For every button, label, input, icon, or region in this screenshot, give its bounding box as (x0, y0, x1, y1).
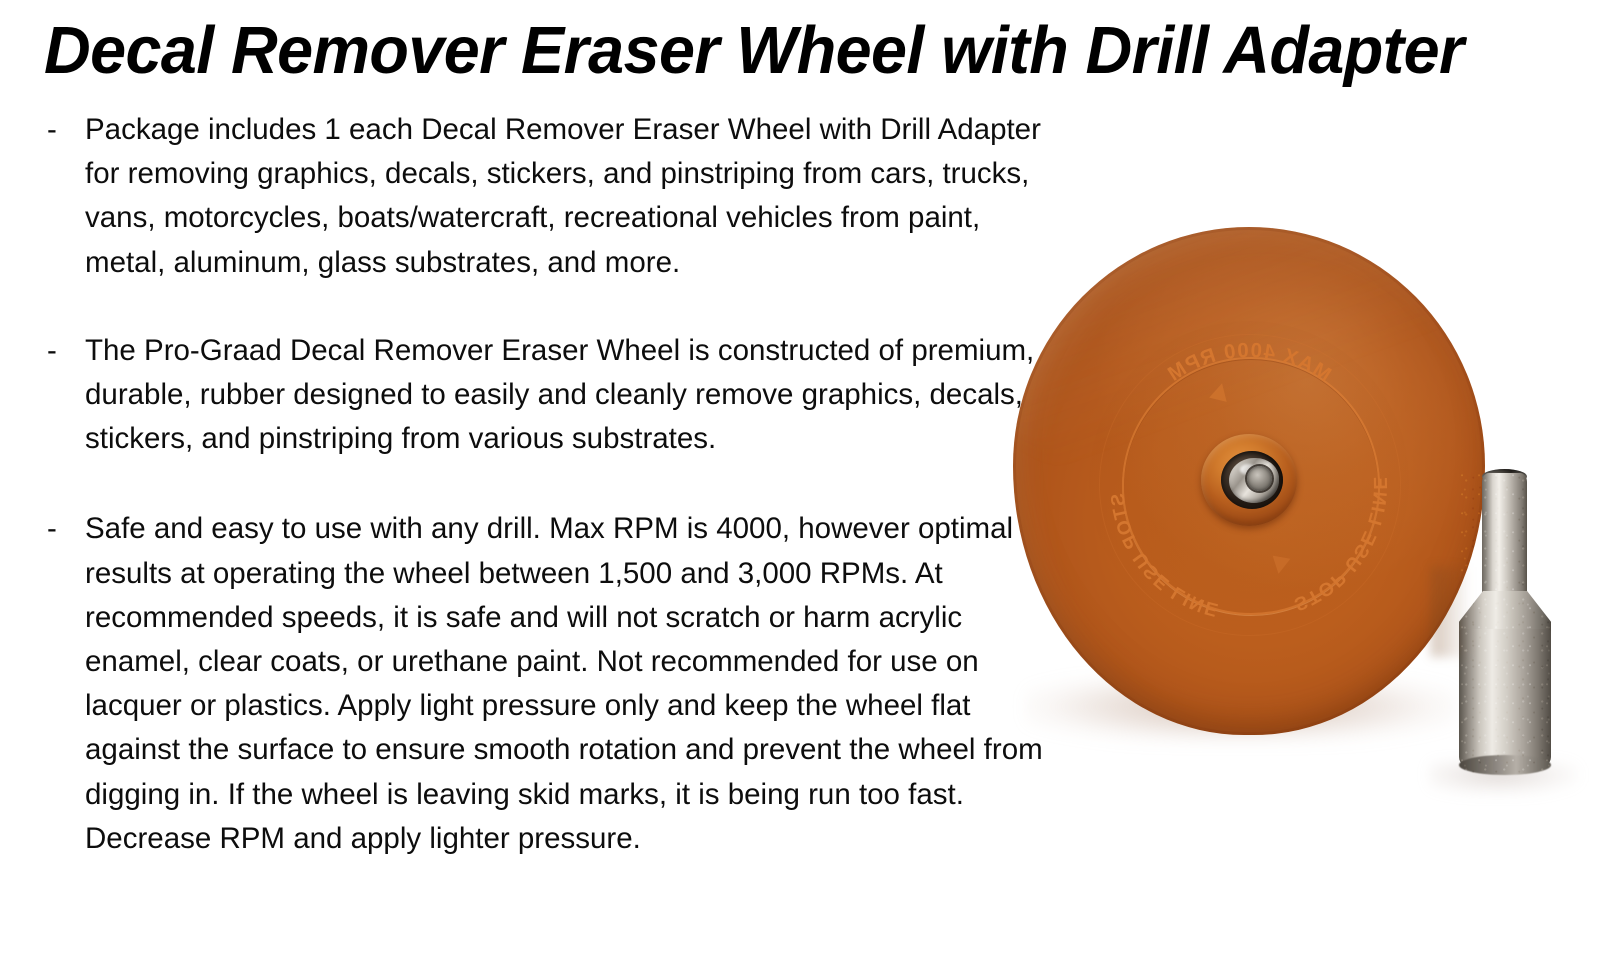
description-list: - Package includes 1 each Decal Remover … (44, 108, 1034, 861)
drill-adapter (1437, 473, 1579, 773)
wheel-hub-bore (1221, 451, 1283, 509)
list-item: - The Pro-Graad Decal Remover Eraser Whe… (44, 329, 1067, 462)
bullet-marker-icon: - (47, 507, 57, 551)
hub-nut-bore (1247, 466, 1272, 491)
list-item-text: Package includes 1 each Decal Remover Er… (85, 108, 1067, 285)
wheel-hub-boss (1201, 434, 1297, 526)
adapter-metal-texture (1459, 473, 1551, 773)
list-item: - Safe and easy to use with any drill. M… (44, 507, 1067, 861)
list-item-text: The Pro-Graad Decal Remover Eraser Wheel… (85, 329, 1067, 462)
product-infographic: Decal Remover Eraser Wheel with Drill Ad… (0, 0, 1600, 974)
list-item-text: Safe and easy to use with any drill. Max… (85, 507, 1067, 861)
bullet-marker-icon: - (47, 108, 57, 152)
list-item: - Package includes 1 each Decal Remover … (44, 108, 1067, 285)
product-photo: MAX 4000 RPM STOP USE LINE STOP USE LINE (985, 205, 1600, 845)
bullet-marker-icon: - (47, 329, 57, 373)
page-title: Decal Remover Eraser Wheel with Drill Ad… (44, 14, 1472, 88)
stop-use-arrow-icon (1270, 556, 1291, 576)
adapter-reflected-shadow (1431, 567, 1471, 657)
eraser-wheel: MAX 4000 RPM STOP USE LINE STOP USE LINE (1013, 227, 1485, 735)
